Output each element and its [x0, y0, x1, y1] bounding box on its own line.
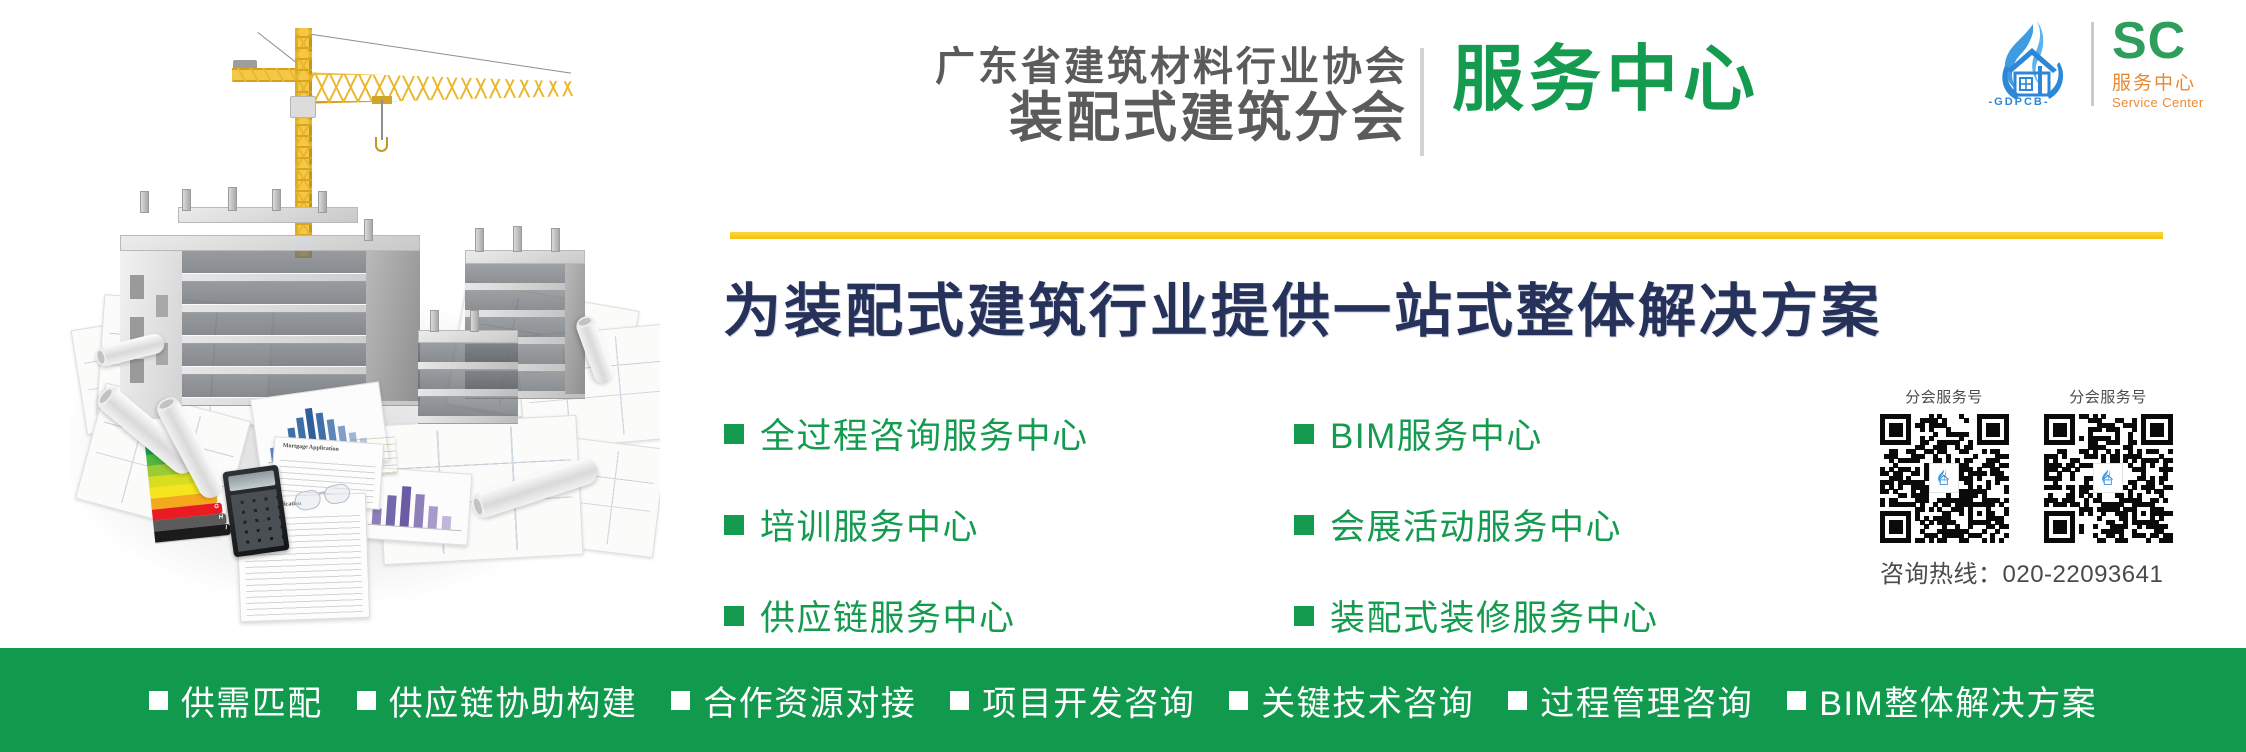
- hotline-text: 咨询热线：020-22093641: [1880, 554, 2220, 589]
- bottom-bar-item[interactable]: 过程管理咨询: [1508, 676, 1753, 725]
- crane-hook: [375, 137, 388, 152]
- square-bullet-icon: [1294, 606, 1314, 626]
- title-vertical-divider: [1420, 48, 1424, 156]
- square-bullet-icon: [724, 424, 744, 444]
- service-center-title: 服务中心: [1452, 40, 1760, 121]
- service-item[interactable]: 会展活动服务中心: [1294, 499, 1764, 550]
- building-main-block: [120, 235, 460, 420]
- qr-caption: 分会服务号: [2044, 386, 2172, 407]
- calculator: [222, 465, 289, 558]
- qr-center-logo: [1929, 463, 1959, 493]
- service-item-label: 供应链服务中心: [760, 590, 1016, 641]
- construction-illustration: A B C D E F G H I: [0, 0, 660, 640]
- service-item[interactable]: BIM服务中心: [1294, 408, 1764, 459]
- square-bullet-icon: [1229, 691, 1248, 710]
- bottom-bar-item[interactable]: 供应链协助构建: [357, 676, 638, 725]
- association-title-block: 广东省建筑材料行业协会 装配式建筑分会: [718, 46, 1408, 147]
- crane-operator-cab: [290, 96, 316, 118]
- qr-cell[interactable]: 分会服务号: [2044, 386, 2172, 542]
- qr-code-image[interactable]: [2044, 414, 2172, 542]
- service-item-label: 全过程咨询服务中心: [760, 408, 1089, 459]
- qr-cell[interactable]: 分会服务号: [1880, 386, 2008, 542]
- square-bullet-icon: [950, 691, 969, 710]
- logo-sc-text: SC: [2112, 18, 2204, 65]
- service-item-label: 装配式装修服务中心: [1330, 590, 1659, 641]
- square-bullet-icon: [357, 691, 376, 710]
- service-item-label: BIM服务中心: [1330, 408, 1543, 459]
- service-item-label: 培训服务中心: [760, 499, 979, 550]
- qr-code-image[interactable]: [1880, 414, 2008, 542]
- service-center-list: 全过程咨询服务中心 BIM服务中心 培训服务中心 会展活动服务中心 供应链服务中…: [724, 408, 1764, 641]
- service-item[interactable]: 供应链服务中心: [724, 590, 1294, 641]
- square-bullet-icon: [1508, 691, 1527, 710]
- crane-hoist-line: [381, 100, 383, 140]
- service-item[interactable]: 装配式装修服务中心: [1294, 590, 1764, 641]
- square-bullet-icon: [1294, 515, 1314, 535]
- emblem-caption: -GDPCB-: [1988, 96, 2049, 108]
- service-item[interactable]: 培训服务中心: [724, 499, 1294, 550]
- bottom-bar-item[interactable]: 关键技术咨询: [1229, 676, 1474, 725]
- square-bullet-icon: [149, 691, 168, 710]
- calculator-screen: [228, 470, 276, 491]
- building-lower-tower: [418, 330, 523, 450]
- service-item[interactable]: 全过程咨询服务中心: [724, 408, 1294, 459]
- gdpcb-emblem-icon: -GDPCB-: [1985, 18, 2081, 110]
- square-bullet-icon: [671, 691, 690, 710]
- logo-block[interactable]: -GDPCB- SC 服务中心 Service Center: [1985, 14, 2235, 114]
- form-title: Mortgage Application: [283, 443, 339, 453]
- association-name-line1: 广东省建筑材料行业协会: [718, 46, 1408, 88]
- bottom-bar-label: 项目开发咨询: [982, 676, 1195, 725]
- square-bullet-icon: [1787, 691, 1806, 710]
- bottom-green-bar: 供需匹配 供应链协助构建 合作资源对接 项目开发咨询 关键技术咨询 过程管理咨询: [0, 648, 2246, 752]
- square-bullet-icon: [724, 515, 744, 535]
- bottom-bar-label: 过程管理咨询: [1540, 676, 1753, 725]
- logo-text-block: SC 服务中心 Service Center: [2112, 18, 2204, 110]
- crane-mast: [295, 28, 312, 258]
- bottom-bar-label: 供需匹配: [181, 676, 323, 725]
- logo-sc-english: Service Center: [2112, 95, 2204, 110]
- bottom-bar-label: BIM整体解决方案: [1819, 676, 2097, 725]
- bottom-bar-item[interactable]: BIM整体解决方案: [1787, 676, 2097, 725]
- qr-center-logo: [2093, 463, 2123, 493]
- bottom-bar-item[interactable]: 供需匹配: [149, 676, 323, 725]
- logo-divider: [2091, 22, 2094, 106]
- banner-root: A B C D E F G H I: [0, 0, 2246, 752]
- bottom-bar-label: 合作资源对接: [703, 676, 916, 725]
- logo-sc-chinese: 服务中心: [2112, 68, 2204, 95]
- calculator-keypad: [231, 489, 284, 552]
- service-item-label: 会展活动服务中心: [1330, 499, 1622, 550]
- bottom-bar-item[interactable]: 项目开发咨询: [950, 676, 1195, 725]
- bottom-bar-label: 关键技术咨询: [1261, 676, 1474, 725]
- yellow-divider-rule: [730, 232, 2163, 239]
- square-bullet-icon: [1294, 424, 1314, 444]
- bottom-bar-label: 供应链协助构建: [389, 676, 638, 725]
- page-headline: 为装配式建筑行业提供一站式整体解决方案: [723, 264, 1882, 348]
- square-bullet-icon: [724, 606, 744, 626]
- qr-code-zone: 分会服务号 分会服务号 咨询热线：020-22093641: [1880, 386, 2220, 589]
- bottom-bar-items: 供需匹配 供应链协助构建 合作资源对接 项目开发咨询 关键技术咨询 过程管理咨询: [149, 676, 2097, 725]
- qr-caption: 分会服务号: [1880, 386, 2008, 407]
- bottom-bar-item[interactable]: 合作资源对接: [671, 676, 916, 725]
- association-name-line2: 装配式建筑分会: [718, 90, 1408, 146]
